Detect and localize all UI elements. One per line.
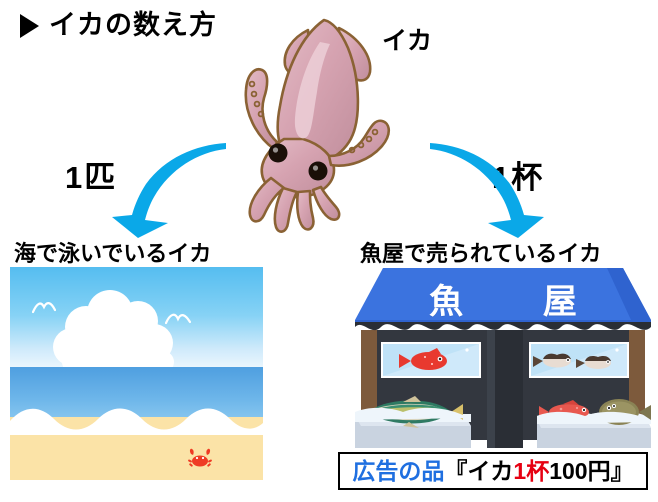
- seagull-icon: [32, 300, 56, 316]
- curved-arrow-down-left-icon: [110, 143, 228, 238]
- seagull-icon: [165, 311, 191, 328]
- shop-building: [355, 330, 651, 448]
- shop-sign-text: 魚 屋: [355, 274, 651, 323]
- title-text: イカの数え方: [49, 12, 217, 39]
- banner-segment-open: 『イカ: [444, 460, 513, 483]
- curved-arrow-down-right-icon: [428, 143, 546, 238]
- caption-shop: 魚屋で売られているイカ: [360, 236, 601, 268]
- wave-foam: [10, 407, 263, 435]
- red-crab-icon: [186, 447, 214, 469]
- infographic-canvas: イカの数え方 イカ: [0, 0, 658, 502]
- squid-illustration: [200, 8, 415, 233]
- caption-sea: 海で泳いでいるイカ: [14, 236, 211, 268]
- fish-shop-illustration: 魚 屋: [355, 268, 651, 448]
- advertisement-banner: 広告の品 『イカ 1杯 100円』: [338, 452, 648, 490]
- cumulus-cloud: [50, 289, 185, 373]
- banner-segment-price: 100円』: [549, 460, 633, 483]
- banner-segment-count: 1杯: [513, 460, 549, 483]
- right-triangle-icon: [20, 14, 39, 38]
- sea-beach-illustration: [10, 267, 263, 480]
- banner-segment-label: 広告の品: [352, 460, 444, 483]
- page-title: イカの数え方: [20, 12, 217, 39]
